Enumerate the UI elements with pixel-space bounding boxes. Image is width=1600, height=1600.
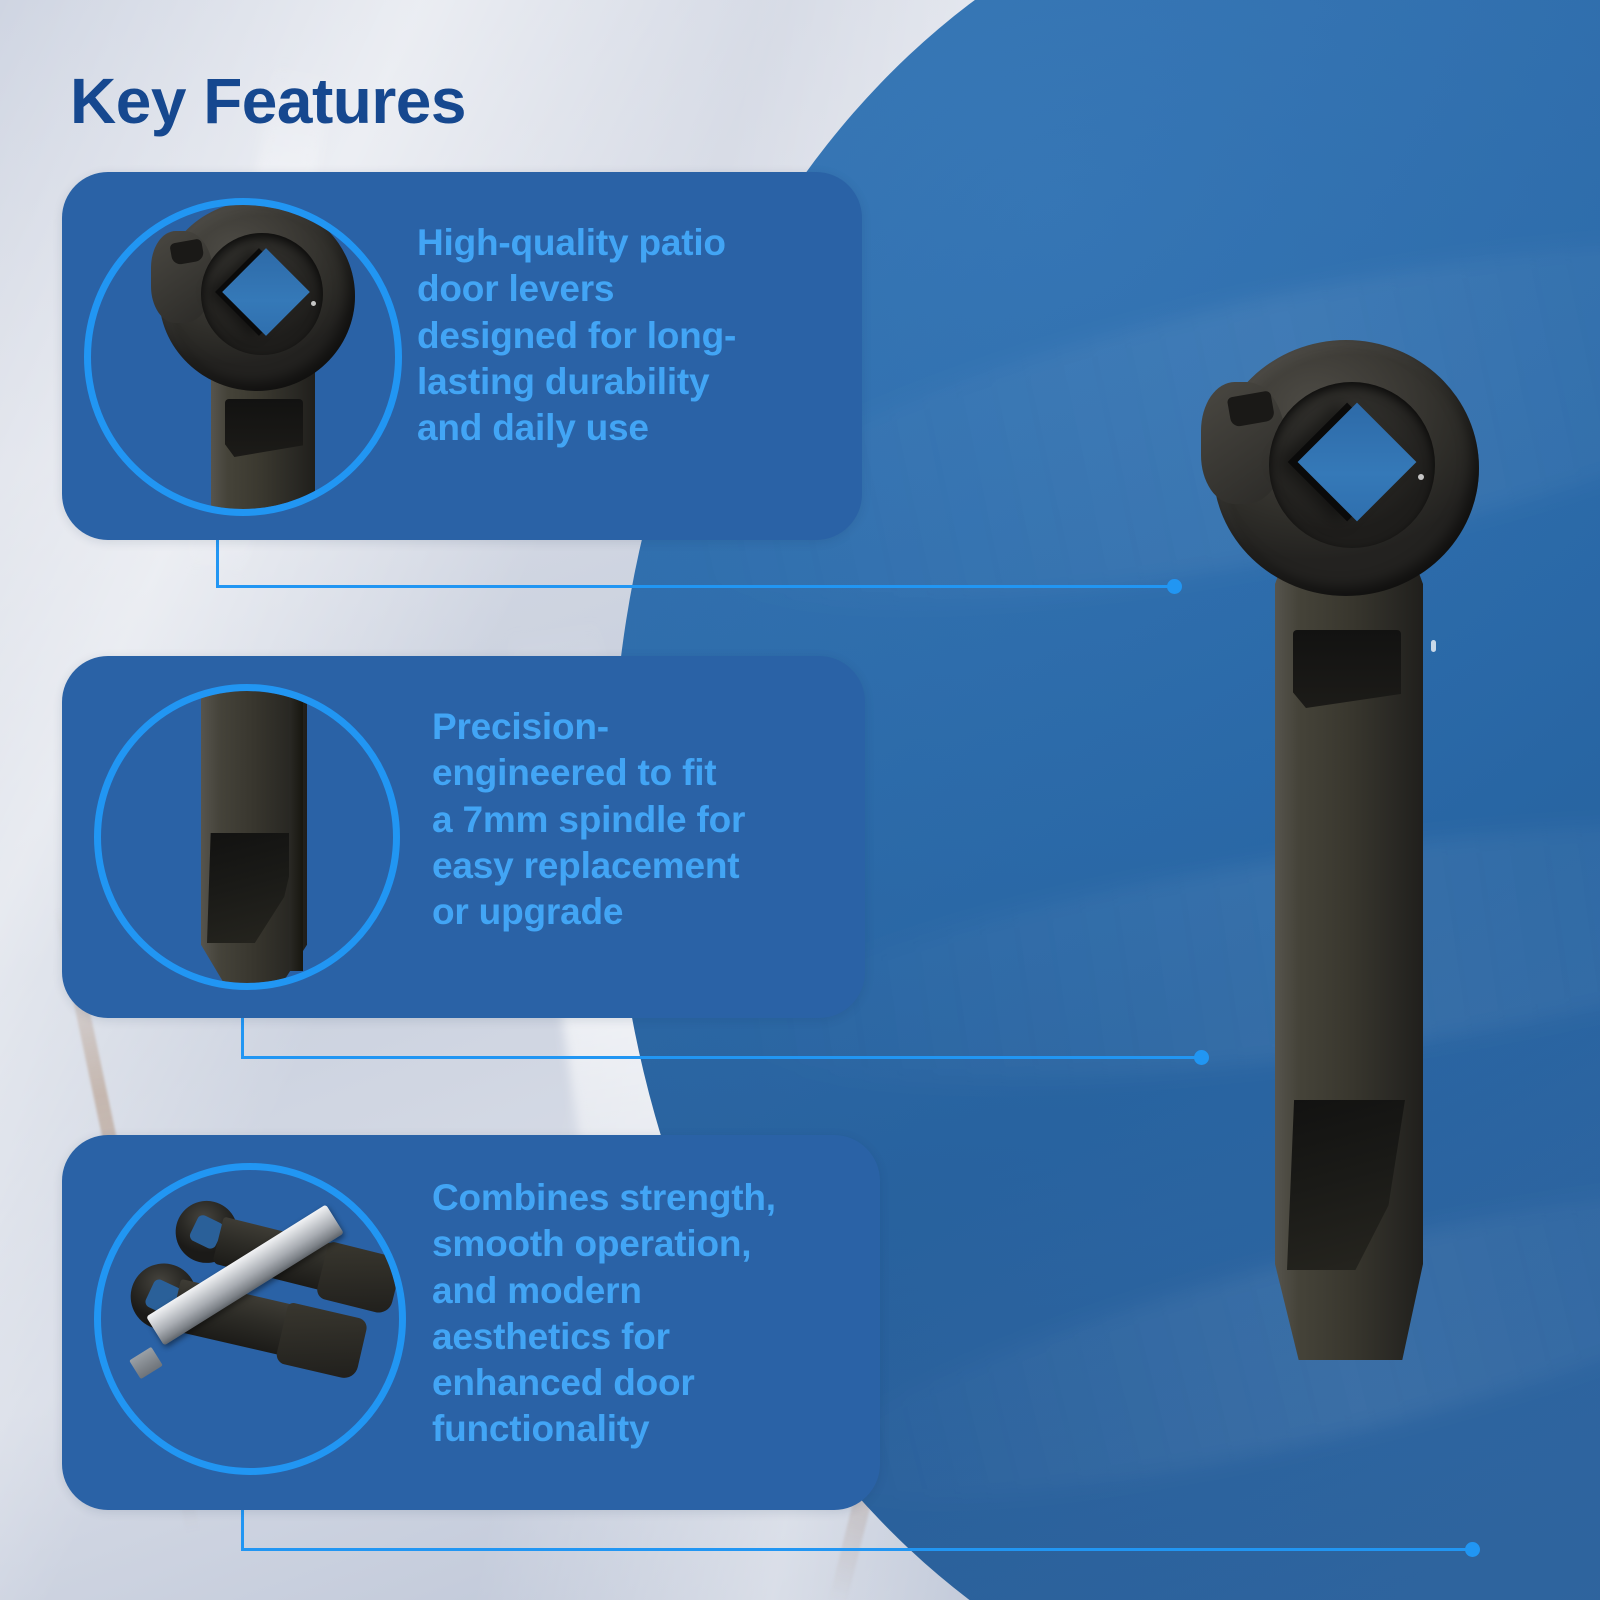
feature-3-text: Combines strength, smooth operation, and…: [432, 1175, 877, 1453]
feature-card-2: Precision- engineered to fit a 7mm spind…: [62, 656, 865, 1018]
feature-2-text: Precision- engineered to fit a 7mm spind…: [432, 704, 857, 935]
feature-1-thumbnail: [84, 198, 402, 516]
feature-card-1: High-quality patio door levers designed …: [62, 172, 862, 540]
connector-3-endpoint-dot: [1465, 1542, 1480, 1557]
lever-grip-slot: [1293, 630, 1401, 708]
feature-3-thumbnail-ring: [94, 1163, 406, 1475]
feature-3-thumbnail: [94, 1163, 406, 1475]
connector-2-horizontal: [241, 1056, 1201, 1059]
connector-2-endpoint-dot: [1194, 1050, 1209, 1065]
feature-1-text: High-quality patio door levers designed …: [417, 220, 842, 451]
page-title: Key Features: [70, 69, 466, 133]
feature-1-thumbnail-ring: [84, 198, 402, 516]
connector-3-horizontal: [241, 1548, 1473, 1551]
main-product-lever: [1175, 340, 1505, 1440]
feature-2-thumbnail: [94, 684, 400, 990]
connector-1-endpoint-dot: [1167, 579, 1182, 594]
connector-1-horizontal: [216, 585, 1174, 588]
feature-card-3: Combines strength, smooth operation, and…: [62, 1135, 880, 1510]
feature-2-thumbnail-ring: [94, 684, 400, 990]
infographic-canvas: Key Features High-quality patio door lev…: [0, 0, 1600, 1600]
